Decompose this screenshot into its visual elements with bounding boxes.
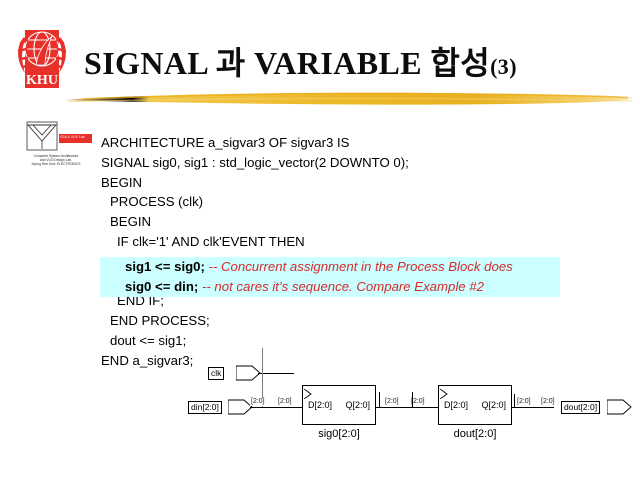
clock-triangle-icon	[304, 389, 314, 399]
code-line: BEGIN	[101, 212, 571, 232]
highlighted-code-comment: -- not cares it’s sequence. Compare Exam…	[202, 279, 484, 294]
wire-mid-tick-b	[412, 392, 413, 407]
flipflop-block-dout: D[2:0] Q[2:0]	[438, 385, 512, 425]
dout-pin-arrow-icon	[607, 398, 633, 416]
flipflop-label-sig0: sig0[2:0]	[302, 428, 376, 440]
code-line: END PROCESS;	[101, 311, 571, 331]
code-line: ARCHITECTURE a_sigvar3 OF sigvar3 IS	[101, 133, 571, 153]
khu-university-logo: KHU	[14, 27, 70, 92]
bus-label-dout-b: [2:0]	[540, 398, 556, 406]
bus-label-din-b: [2:0]	[277, 398, 293, 406]
khu-logo-text: KHU	[26, 73, 58, 88]
wire-din-to-ff1	[250, 407, 302, 408]
code-line: dout <= sig1;	[101, 331, 571, 351]
flipflop-block-sig0: D[2:0] Q[2:0]	[302, 385, 376, 425]
bus-label-mid-a: [2:0]	[384, 398, 400, 406]
lab-badge-text: CSA & VLSI Lab	[60, 135, 85, 139]
ff-output-pin-label: Q[2:0]	[481, 400, 506, 410]
highlighted-code-statement: sig1 <= sig0;	[125, 259, 205, 274]
highlighted-code-comment: -- Concurrent assignment in the Process …	[209, 259, 513, 274]
lab-badge: CSA & VLSI Lab	[59, 134, 92, 143]
din-pin-arrow-icon	[228, 398, 254, 416]
code-line: SIGNAL sig0, sig1 : std_logic_vector(2 D…	[101, 153, 571, 173]
highlighted-code-line: sig0 <= din; -- not cares it’s sequence.…	[125, 277, 484, 297]
code-line: BEGIN	[101, 173, 571, 193]
schematic-pin-din: din[2:0]	[188, 401, 222, 414]
ff-output-pin-label: Q[2:0]	[345, 400, 370, 410]
bus-label-din-a: [2:0]	[250, 398, 266, 406]
slide-title: SIGNAL 과 VARIABLE 합성(3)	[84, 44, 517, 86]
lab-caption-line-3: Kyung Hee Univ. ELECTRONICS	[19, 162, 93, 166]
code-line: PROCESS (clk)	[101, 192, 571, 212]
clock-triangle-icon	[440, 389, 450, 399]
ff-input-pin-label: D[2:0]	[444, 400, 468, 410]
slide-title-main: SIGNAL 과 VARIABLE 합성	[84, 45, 490, 81]
highlighted-code-line: sig1 <= sig0; -- Concurrent assignment i…	[125, 257, 513, 277]
vhdl-code-block: ARCHITECTURE a_sigvar3 OF sigvar3 IS SIG…	[101, 133, 571, 371]
slide-canvas: KHU SIGNAL 과 VARIABLE 합성(3)	[0, 0, 640, 480]
highlighted-code-block: sig1 <= sig0; -- Concurrent assignment i…	[100, 257, 560, 297]
flipflop-label-dout: dout[2:0]	[438, 428, 512, 440]
gold-brush-divider	[62, 88, 636, 106]
schematic-pin-dout: dout[2:0]	[561, 401, 600, 414]
slide-title-number: (3)	[490, 54, 517, 79]
wire-mid-tick-a	[379, 392, 380, 407]
code-line: END a_sigvar3;	[101, 351, 571, 371]
code-line: IF clk='1' AND clk'EVENT THEN	[101, 232, 571, 252]
wire-ff1-to-ff2	[376, 407, 438, 408]
bus-label-mid-b: [2:0]	[410, 398, 426, 406]
wire-clk-out	[258, 373, 294, 374]
highlighted-code-statement: sig0 <= din;	[125, 279, 198, 294]
bus-label-dout-a: [2:0]	[516, 398, 532, 406]
lab-logo: CSA & VLSI Lab Computer System Architect…	[19, 121, 93, 173]
wire-ff2-to-dout	[512, 407, 554, 408]
ff-input-pin-label: D[2:0]	[308, 400, 332, 410]
wire-dout-tick-a	[514, 394, 515, 407]
